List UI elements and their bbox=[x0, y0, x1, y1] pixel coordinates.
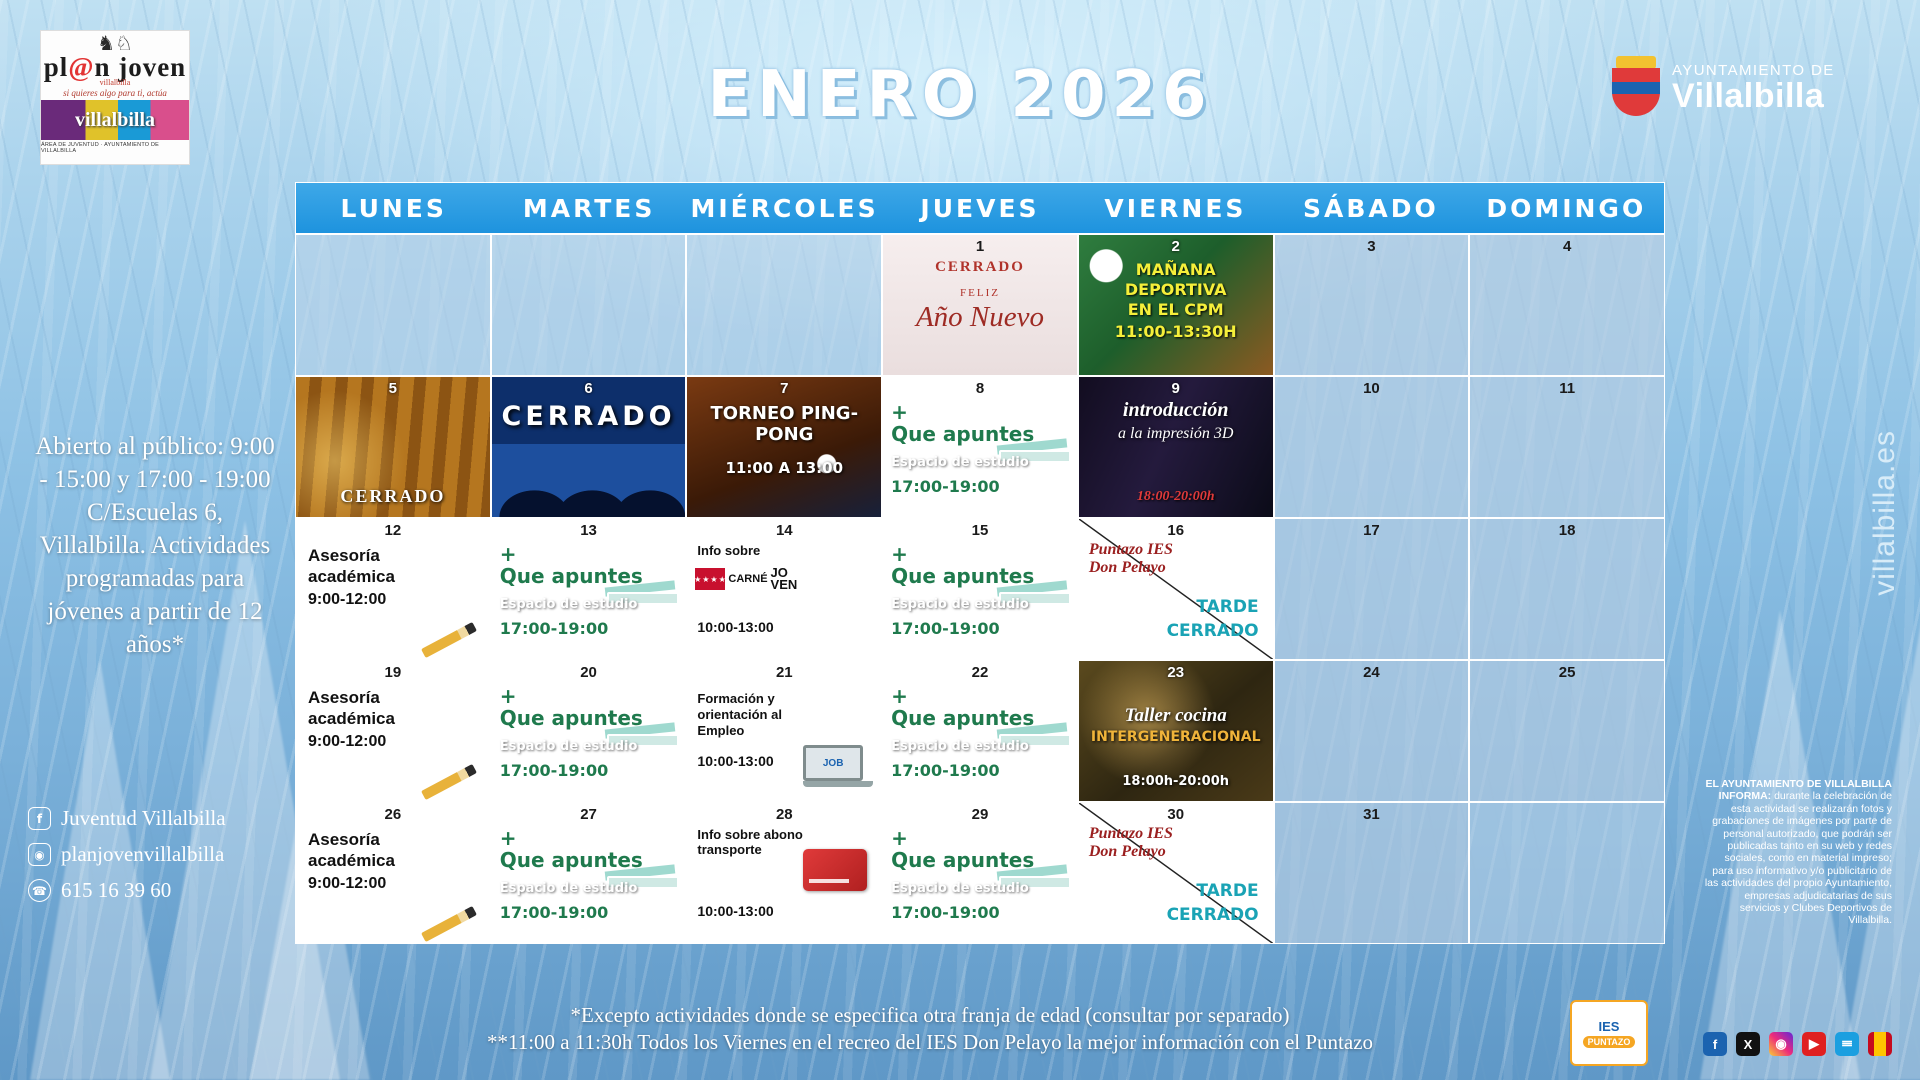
calendar-grid: 1CERRADOFELIZAño Nuevo2MAÑANADEPORTIVAEN… bbox=[295, 234, 1665, 944]
contact-block: f Juventud Villalbilla ◉ planjovenvillal… bbox=[28, 806, 288, 914]
day-number: 28 bbox=[687, 806, 881, 823]
ies-badge-line1: IES bbox=[1599, 1019, 1620, 1034]
event-line-1: Asesoríaacadémica bbox=[296, 829, 490, 871]
calendar-day-24: 24 bbox=[1274, 660, 1470, 802]
calendar-day-31: 31 bbox=[1274, 802, 1470, 944]
calendar-day-25: 25 bbox=[1469, 660, 1665, 802]
event-line-3: 17:00-19:00 bbox=[883, 903, 1077, 922]
calendar-day-5: 5CERRADO bbox=[295, 376, 491, 518]
event-line-1: CERRADO bbox=[492, 401, 686, 432]
event-line-1: CERRADO bbox=[883, 259, 1077, 276]
day-number: 9 bbox=[1079, 380, 1273, 397]
day-number: 21 bbox=[687, 664, 881, 681]
event-line-1: +Que apuntes bbox=[883, 685, 1077, 729]
event-line-2: Espacio de estudio bbox=[492, 881, 686, 896]
event-line-2: Espacio de estudio bbox=[492, 597, 686, 612]
day-number: 4 bbox=[1470, 238, 1664, 255]
contact-label: planjovenvillalbilla bbox=[61, 842, 224, 867]
x-icon[interactable]: X bbox=[1736, 1032, 1760, 1056]
day-number: 29 bbox=[883, 806, 1077, 823]
legal-notice: EL AYUNTAMIENTO DE VILLALBILLA INFORMA: … bbox=[1702, 778, 1892, 927]
event-line-2: a la impresión 3D bbox=[1079, 425, 1273, 443]
day-number: 7 bbox=[687, 380, 881, 397]
calendar-day-27: 27+Que apuntesEspacio de estudio17:00-19… bbox=[491, 802, 687, 944]
calendar-day-7: 7TORNEO PING-PONG11:00 A 13:00 bbox=[686, 376, 882, 518]
event-line-3: 17:00-19:00 bbox=[492, 619, 686, 638]
event-line-1: MAÑANA bbox=[1079, 261, 1273, 279]
event-line-1: Asesoríaacadémica bbox=[296, 687, 490, 729]
calendar-day-26: 26Asesoríaacadémica9:00-12:00 bbox=[295, 802, 491, 944]
logo-footer: ÁREA DE JUVENTUD · AYUNTAMIENTO DE VILLA… bbox=[41, 142, 189, 154]
event-line-1: +Que apuntes bbox=[492, 543, 686, 587]
day-number: 22 bbox=[883, 664, 1077, 681]
event-line-2: 9:00-12:00 bbox=[296, 591, 490, 609]
footer-note-1: *Excepto actividades donde se especifica… bbox=[295, 1002, 1565, 1029]
day-number: 14 bbox=[687, 522, 881, 539]
day-number: 10 bbox=[1275, 380, 1469, 397]
calendar-day-empty bbox=[1469, 802, 1665, 944]
facebook-icon[interactable]: f bbox=[1703, 1032, 1727, 1056]
calendar-day-13: 13+Que apuntesEspacio de estudio17:00-19… bbox=[491, 518, 687, 660]
contact-facebook[interactable]: f Juventud Villalbilla bbox=[28, 806, 288, 831]
weekday-jueves: JUEVES bbox=[882, 194, 1077, 223]
day-number: 5 bbox=[296, 380, 490, 397]
calendar-day-20: 20+Que apuntesEspacio de estudio17:00-19… bbox=[491, 660, 687, 802]
footer-note-2: **11:00 a 11:30h Todos los Viernes en el… bbox=[295, 1029, 1565, 1056]
contact-whatsapp[interactable]: ☎ 615 16 39 60 bbox=[28, 878, 288, 903]
calendar-day-12: 12Asesoríaacadémica9:00-12:00 bbox=[295, 518, 491, 660]
event-line-2: Espacio de estudio bbox=[883, 881, 1077, 896]
day-number: 2 bbox=[1079, 238, 1273, 255]
day-number: 3 bbox=[1275, 238, 1469, 255]
calendar-day-21: 21JOBFormación yorientación alEmpleo10:0… bbox=[686, 660, 882, 802]
contact-label: 615 16 39 60 bbox=[61, 878, 171, 903]
calendar-day-3: 3 bbox=[1274, 234, 1470, 376]
event-line-1: TORNEO PING-PONG bbox=[687, 403, 881, 445]
flag-icon[interactable] bbox=[1868, 1032, 1892, 1056]
twitter-icon[interactable]: 𝍢 bbox=[1835, 1032, 1859, 1056]
event-line-2: FELIZ bbox=[883, 287, 1077, 299]
event-line-1: +Que apuntes bbox=[492, 685, 686, 729]
calendar-day-empty bbox=[491, 234, 687, 376]
calendar-day-22: 22+Que apuntesEspacio de estudio17:00-19… bbox=[882, 660, 1078, 802]
event-line-3: CERRADO bbox=[1079, 905, 1273, 925]
event-line-2: Espacio de estudio bbox=[492, 739, 686, 754]
event-line-1: CERRADO bbox=[296, 486, 490, 507]
day-number: 11 bbox=[1470, 380, 1664, 397]
weekday-sabado: SÁBADO bbox=[1273, 194, 1468, 223]
calendar-day-empty bbox=[686, 234, 882, 376]
event-line-1: Formación yorientación alEmpleo bbox=[687, 691, 881, 739]
facebook-icon: f bbox=[28, 807, 51, 830]
event-line-3: 18:00h-20:00h bbox=[1079, 774, 1273, 789]
carne-joven-logo: ★★★★CARNÉJOVEN bbox=[695, 567, 797, 591]
contact-instagram[interactable]: ◉ planjovenvillalbilla bbox=[28, 842, 288, 867]
calendar-day-15: 15+Que apuntesEspacio de estudio17:00-19… bbox=[882, 518, 1078, 660]
day-number: 13 bbox=[492, 522, 686, 539]
camels-silhouette-icon bbox=[492, 462, 686, 517]
event-line-2: DEPORTIVA bbox=[1079, 281, 1273, 299]
weekday-miercoles: MIÉRCOLES bbox=[687, 194, 882, 223]
event-line-2: 11:00 A 13:00 bbox=[687, 459, 881, 477]
event-line-3: 17:00-19:00 bbox=[883, 477, 1077, 496]
weekday-viernes: VIERNES bbox=[1078, 194, 1273, 223]
horse-rider-icon: ♞♘ bbox=[97, 34, 133, 54]
event-line-3: 17:00-19:00 bbox=[883, 619, 1077, 638]
event-line-2: TARDE bbox=[1079, 597, 1273, 617]
calendar-day-19: 19Asesoríaacadémica9:00-12:00 bbox=[295, 660, 491, 802]
day-number: 18 bbox=[1470, 522, 1664, 539]
event-line-3: 10:00-13:00 bbox=[687, 619, 881, 635]
calendar-day-14: 14Info sobre★★★★CARNÉJOVEN10:00-13:00 bbox=[686, 518, 882, 660]
event-line-1: +Que apuntes bbox=[883, 543, 1077, 587]
whatsapp-icon: ☎ bbox=[28, 879, 51, 902]
event-line-3: 17:00-19:00 bbox=[492, 903, 686, 922]
day-number: 1 bbox=[883, 238, 1077, 255]
weekday-martes: MARTES bbox=[491, 194, 686, 223]
calendar-day-6: 6CERRADO bbox=[491, 376, 687, 518]
event-line-2: Espacio de estudio bbox=[883, 739, 1077, 754]
calendar-day-17: 17 bbox=[1274, 518, 1470, 660]
day-number: 6 bbox=[492, 380, 686, 397]
day-number: 17 bbox=[1275, 522, 1469, 539]
day-number: 25 bbox=[1470, 664, 1664, 681]
event-line-3: Año Nuevo bbox=[883, 301, 1077, 334]
day-number: 27 bbox=[492, 806, 686, 823]
calendar: LUNES MARTES MIÉRCOLES JUEVES VIERNES SÁ… bbox=[295, 182, 1665, 944]
calendar-day-29: 29+Que apuntesEspacio de estudio17:00-19… bbox=[882, 802, 1078, 944]
event-line-2: 9:00-12:00 bbox=[296, 875, 490, 893]
calendar-day-18: 18 bbox=[1469, 518, 1665, 660]
event-line-1: Puntazo IES Don Pelayo bbox=[1079, 825, 1273, 861]
event-line-3: CERRADO bbox=[1079, 621, 1273, 641]
event-line-2: 10:00-13:00 bbox=[687, 753, 881, 769]
calendar-day-30: 30Puntazo IES Don PelayoTARDECERRADO bbox=[1078, 802, 1274, 944]
calendar-day-11: 11 bbox=[1469, 376, 1665, 518]
ies-badge-line2: PUNTAZO bbox=[1583, 1036, 1636, 1048]
event-line-3: 18:00-20:00h bbox=[1079, 489, 1273, 505]
event-line-3: 17:00-19:00 bbox=[883, 761, 1077, 780]
weekday-lunes: LUNES bbox=[296, 194, 491, 223]
day-number: 24 bbox=[1275, 664, 1469, 681]
page-title: ENERO 2026 bbox=[0, 58, 1920, 132]
info-panel: Abierto al público: 9:00 - 15:00 y 17:00… bbox=[35, 430, 275, 661]
calendar-day-16: 16Puntazo IES Don PelayoTARDECERRADO bbox=[1078, 518, 1274, 660]
event-line-2: Espacio de estudio bbox=[883, 455, 1077, 470]
contact-label: Juventud Villalbilla bbox=[61, 806, 226, 831]
social-icons[interactable]: f X ◉ ▶ 𝍢 bbox=[1703, 1032, 1892, 1056]
event-line-1: Puntazo IES Don Pelayo bbox=[1079, 541, 1273, 577]
event-line-2: TARDE bbox=[1079, 881, 1273, 901]
event-line-1: +Que apuntes bbox=[883, 827, 1077, 871]
day-number: 31 bbox=[1275, 806, 1469, 823]
day-number: 30 bbox=[1079, 806, 1273, 823]
event-line-2: Espacio de estudio bbox=[883, 597, 1077, 612]
day-number: 19 bbox=[296, 664, 490, 681]
calendar-day-9: 9introduccióna la impresión 3D18:00-20:0… bbox=[1078, 376, 1274, 518]
day-number: 20 bbox=[492, 664, 686, 681]
day-number: 8 bbox=[883, 380, 1077, 397]
day-number: 12 bbox=[296, 522, 490, 539]
calendar-day-4: 4 bbox=[1469, 234, 1665, 376]
weekday-header: LUNES MARTES MIÉRCOLES JUEVES VIERNES SÁ… bbox=[295, 182, 1665, 234]
weekday-domingo: DOMINGO bbox=[1469, 194, 1664, 223]
calendar-day-8: 8+Que apuntesEspacio de estudio17:00-19:… bbox=[882, 376, 1078, 518]
event-line-1: Info sobre abonotransporte bbox=[687, 827, 881, 857]
event-line-1: Info sobre bbox=[687, 543, 881, 558]
event-line-1: Taller cocina bbox=[1079, 705, 1273, 727]
calendar-day-empty bbox=[295, 234, 491, 376]
footer-notes: *Excepto actividades donde se especifica… bbox=[295, 1002, 1565, 1056]
event-line-1: Asesoríaacadémica bbox=[296, 545, 490, 587]
event-line-2: 10:00-13:00 bbox=[687, 903, 881, 919]
day-number: 15 bbox=[883, 522, 1077, 539]
calendar-day-1: 1CERRADOFELIZAño Nuevo bbox=[882, 234, 1078, 376]
youtube-icon[interactable]: ▶ bbox=[1802, 1032, 1826, 1056]
event-photo bbox=[687, 377, 881, 517]
website-vertical: villalbilla.es bbox=[1868, 430, 1902, 596]
event-line-1: introducción bbox=[1079, 399, 1273, 422]
event-line-3: 17:00-19:00 bbox=[492, 761, 686, 780]
event-line-1: +Que apuntes bbox=[883, 401, 1077, 445]
instagram-icon: ◉ bbox=[28, 843, 51, 866]
calendar-day-10: 10 bbox=[1274, 376, 1470, 518]
event-line-2: 9:00-12:00 bbox=[296, 733, 490, 751]
legal-notice-text: durante la celebración de esta actividad… bbox=[1705, 790, 1892, 926]
madrid-flag-icon: ★★★★ bbox=[695, 568, 725, 590]
ies-puntazo-badge: IES PUNTAZO bbox=[1570, 1000, 1648, 1066]
event-line-3: EN EL CPM bbox=[1079, 301, 1273, 319]
event-line-1: +Que apuntes bbox=[492, 827, 686, 871]
calendar-day-2: 2MAÑANADEPORTIVAEN EL CPM11:00-13:30H bbox=[1078, 234, 1274, 376]
day-number: 23 bbox=[1079, 664, 1273, 681]
event-line-4: 11:00-13:30H bbox=[1079, 323, 1273, 341]
day-number: 26 bbox=[296, 806, 490, 823]
calendar-day-28: 28Info sobre abonotransporte10:00-13:00 bbox=[686, 802, 882, 944]
instagram-icon[interactable]: ◉ bbox=[1769, 1032, 1793, 1056]
calendar-day-23: 23Taller cocinaINTERGENERACIONAL18:00h-2… bbox=[1078, 660, 1274, 802]
event-line-2: INTERGENERACIONAL bbox=[1079, 729, 1273, 745]
day-number: 16 bbox=[1079, 522, 1273, 539]
